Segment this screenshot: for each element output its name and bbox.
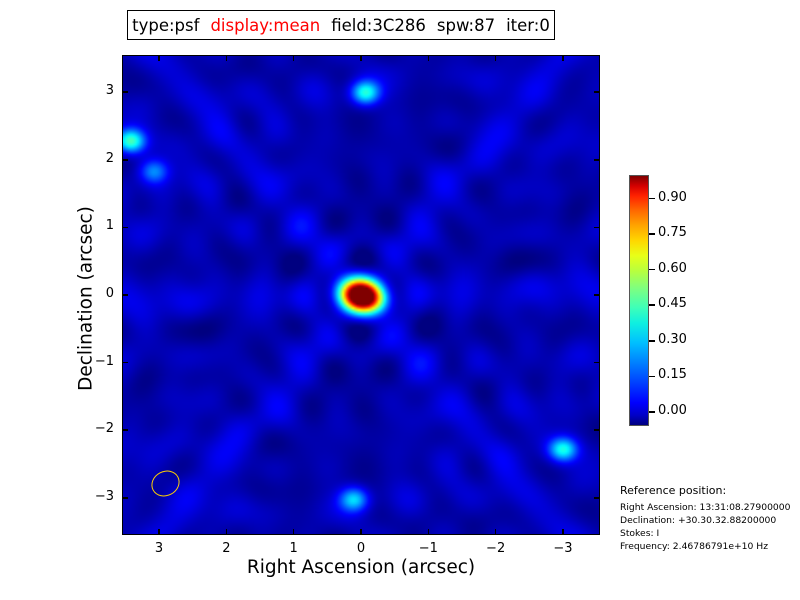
colorbar-container[interactable]: 0.900.750.600.450.300.150.00: [629, 175, 649, 426]
y-tick-left: [122, 362, 128, 364]
colorbar-tick-label: 0.00: [658, 403, 687, 418]
reference-declination: Declination: +30.30.32.88200000: [620, 514, 800, 527]
colorbar-tick-label: 0.15: [658, 367, 687, 382]
colorbar-tick-label: 0.75: [658, 225, 687, 240]
x-axis-title: Right Ascension (arcsec): [122, 557, 600, 578]
x-tick-top: [226, 55, 228, 61]
y-tick-left: [122, 91, 128, 93]
x-tick-label: 2: [206, 541, 246, 556]
y-tick-right: [594, 429, 600, 431]
x-tick-top: [562, 55, 564, 61]
psf-heatmap-canvas[interactable]: [123, 56, 599, 534]
x-tick-bottom: [360, 529, 362, 535]
reference-right-ascension: Right Ascension: 13:31:08.27900000: [620, 501, 800, 514]
title-segment-iter: iter:0: [506, 16, 550, 35]
colorbar-tick-label: 0.60: [658, 261, 687, 276]
x-tick-bottom: [562, 529, 564, 535]
x-tick-top: [293, 55, 295, 61]
title-segment-display: display:mean: [210, 16, 320, 35]
x-tick-bottom: [158, 529, 160, 535]
x-tick-bottom: [226, 529, 228, 535]
y-tick-left: [122, 159, 128, 161]
y-tick-right: [594, 497, 600, 499]
x-tick-label: −3: [543, 541, 583, 556]
title-segment-type: type:psf: [132, 16, 199, 35]
y-tick-right: [594, 294, 600, 296]
x-tick-top: [360, 55, 362, 61]
reference-heading: Reference position:: [620, 483, 800, 499]
x-tick-bottom: [495, 529, 497, 535]
colorbar-tick-label: 0.90: [658, 190, 687, 205]
colorbar-tick-label: 0.45: [658, 296, 687, 311]
plot-title-bar: type:psf display:mean field:3C286 spw:87…: [127, 10, 555, 40]
y-tick-right: [594, 362, 600, 364]
reference-position-block: Reference position: Right Ascension: 13:…: [620, 483, 800, 553]
y-tick-left: [122, 227, 128, 229]
x-tick-label: −2: [476, 541, 516, 556]
colorbar-tick: [649, 411, 655, 413]
y-tick-left: [122, 294, 128, 296]
x-tick-label: 3: [139, 541, 179, 556]
colorbar-tick: [649, 198, 655, 200]
x-tick-top: [428, 55, 430, 61]
y-tick-right: [594, 227, 600, 229]
x-tick-top: [158, 55, 160, 61]
x-tick-bottom: [293, 529, 295, 535]
title-segment-spw: spw:87: [437, 16, 495, 35]
y-tick-left: [122, 429, 128, 431]
y-tick-right: [594, 159, 600, 161]
colorbar-gradient[interactable]: [629, 175, 649, 426]
y-tick-left: [122, 497, 128, 499]
colorbar-tick-label: 0.30: [658, 332, 687, 347]
x-tick-label: −1: [408, 541, 448, 556]
y-tick-right: [594, 91, 600, 93]
colorbar-tick: [649, 376, 655, 378]
x-tick-bottom: [428, 529, 430, 535]
y-axis-title: Declination (arcsec): [76, 59, 97, 539]
colorbar-tick: [649, 233, 655, 235]
colorbar-tick: [649, 269, 655, 271]
x-tick-top: [495, 55, 497, 61]
x-tick-label: 0: [341, 541, 381, 556]
colorbar-tick: [649, 304, 655, 306]
reference-stokes: Stokes: I: [620, 527, 800, 540]
psf-image-plot[interactable]: [122, 55, 600, 535]
title-segment-field: field:3C286: [331, 16, 426, 35]
x-tick-label: 1: [274, 541, 314, 556]
colorbar-tick: [649, 340, 655, 342]
reference-frequency: Frequency: 2.46786791e+10 Hz: [620, 540, 800, 553]
